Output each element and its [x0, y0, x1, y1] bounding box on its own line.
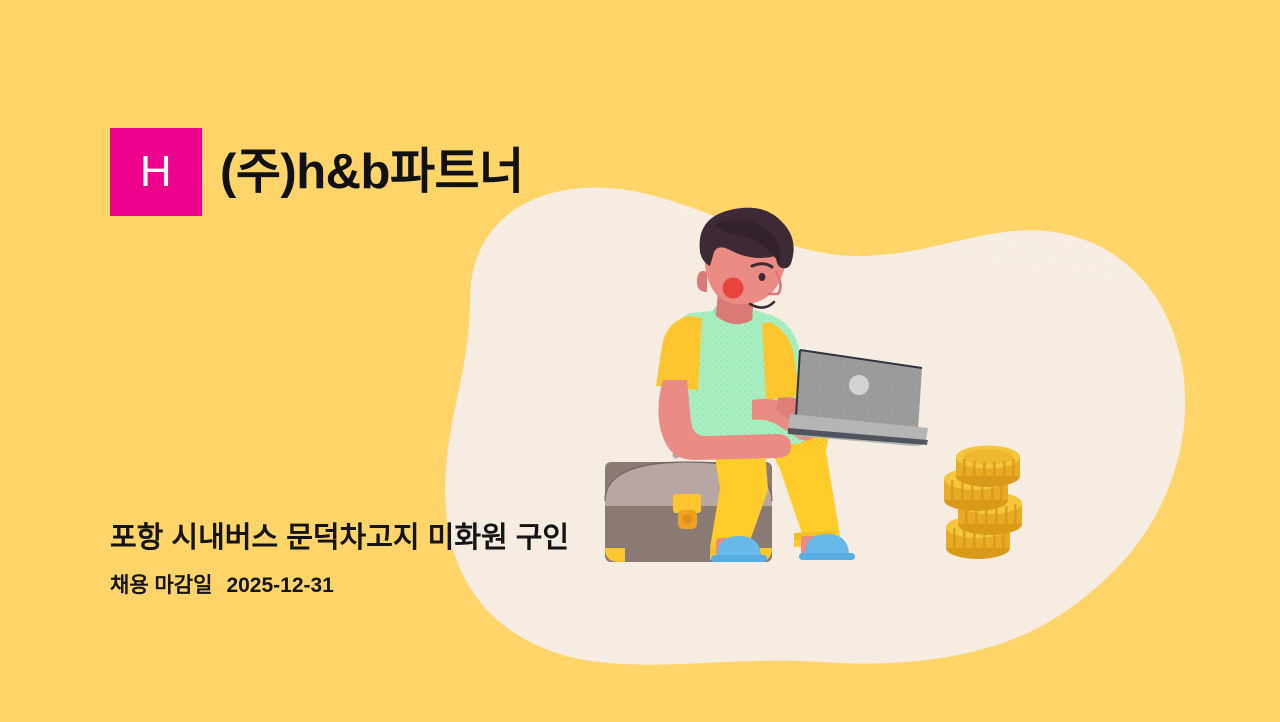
company-logo-letter: H [140, 150, 172, 194]
job-info-block: 포항 시내버스 문덕차고지 미화원 구인 채용 마감일 2025-12-31 [110, 522, 569, 596]
poster-header: H (주)h&b파트너 [110, 128, 524, 216]
deadline-date: 2025-12-31 [226, 575, 333, 596]
job-posting-poster: H (주)h&b파트너 포항 시내버스 문덕차고지 미화원 구인 채용 마감일 … [0, 0, 1280, 722]
company-logo-h-badge: H [110, 128, 202, 216]
job-title: 포항 시내버스 문덕차고지 미화원 구인 [110, 522, 569, 555]
application-deadline: 채용 마감일 2025-12-31 [110, 575, 569, 596]
man-working-on-laptop-illustration [0, 0, 1280, 722]
company-name: (주)h&b파트너 [220, 148, 524, 197]
deadline-label: 채용 마감일 [110, 575, 212, 596]
